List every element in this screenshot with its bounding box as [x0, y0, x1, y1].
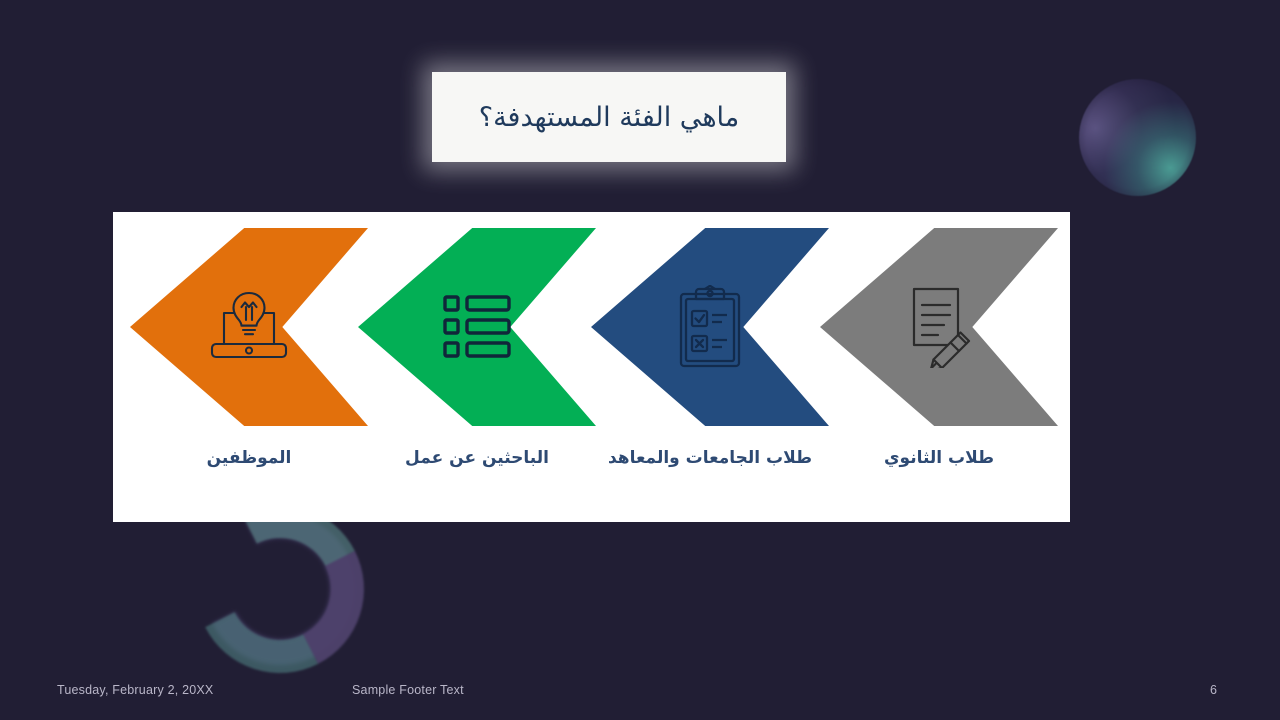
footer-text: Sample Footer Text: [352, 683, 464, 697]
slide-canvas: ماهي الفئة المستهدفة؟ الموظفين: [0, 0, 1280, 720]
chevron-label-1: الموظفين: [130, 448, 368, 468]
chevron-label-4: طلاب الثانوي: [820, 448, 1058, 468]
chevron-row: الموظفين الباحثين عن عمل: [113, 212, 1070, 522]
content-panel: الموظفين الباحثين عن عمل: [113, 212, 1070, 522]
page-number: 6: [1210, 683, 1217, 697]
sphere-decoration: [1079, 79, 1196, 196]
chevron-shape-2[interactable]: [358, 228, 596, 426]
title-box: ماهي الفئة المستهدفة؟: [432, 72, 786, 162]
chevron-label-2: الباحثين عن عمل: [358, 448, 596, 468]
chevron-label-3: طلاب الجامعات والمعاهد: [591, 448, 829, 468]
chevron-shape-1[interactable]: [130, 228, 368, 426]
footer-date: Tuesday, February 2, 20XX: [57, 683, 213, 697]
page-title: ماهي الفئة المستهدفة؟: [479, 102, 740, 133]
chevron-shape-4[interactable]: [820, 228, 1058, 426]
chevron-shape-3[interactable]: [591, 228, 829, 426]
